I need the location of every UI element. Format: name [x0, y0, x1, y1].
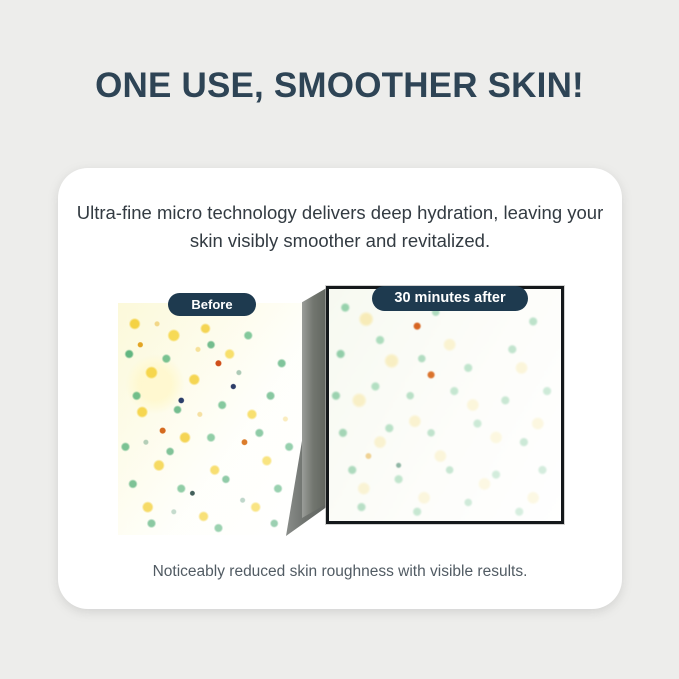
before-skin-texture-overlay — [118, 303, 304, 535]
promo-graphic-page: { "headline": "ONE USE, SMOOTHER SKIN!",… — [0, 0, 679, 679]
after-skin-texture — [329, 289, 561, 521]
intro-paragraph: Ultra-fine micro technology delivers dee… — [58, 199, 622, 255]
before-image-panel — [118, 303, 304, 535]
content-card: Ultra-fine micro technology delivers dee… — [58, 168, 622, 609]
after-image-panel — [326, 286, 564, 524]
before-after-comparison: Before 30 minutes after — [58, 286, 622, 536]
page-title: ONE USE, SMOOTHER SKIN! — [0, 66, 679, 106]
result-caption: Noticeably reduced skin roughness with v… — [58, 563, 622, 581]
before-label-badge: Before — [168, 293, 256, 316]
after-label-badge: 30 minutes after — [372, 286, 528, 311]
